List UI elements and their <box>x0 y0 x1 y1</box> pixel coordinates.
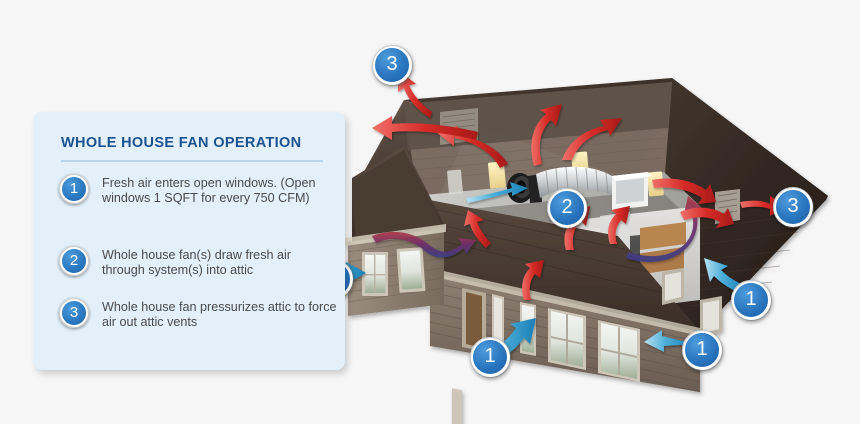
legend-badge-2: 2 <box>59 246 89 276</box>
legend-badge-3: 3 <box>59 298 89 328</box>
marker-2-fan-unit[interactable]: 2 <box>547 188 587 228</box>
legend-panel: WHOLE HOUSE FAN OPERATION 1 Fresh air en… <box>33 112 345 370</box>
title-divider <box>61 160 323 162</box>
marker-1-window-right-lower[interactable]: 1 <box>682 330 722 370</box>
legend-badge-1: 1 <box>59 174 89 204</box>
marker-1-window-front[interactable]: 1 <box>470 337 510 377</box>
legend-item-3: 3 Whole house fan pressurizes attic to f… <box>59 298 337 331</box>
marker-3-gable-right[interactable]: 3 <box>773 187 813 227</box>
marker-3-gable-left[interactable]: 3 <box>372 45 412 85</box>
legend-item-1: 1 Fresh air enters open windows. (Open w… <box>59 174 337 207</box>
legend-text-2: Whole house fan(s) draw fresh air throug… <box>102 246 337 279</box>
marker-1-window-right-upper[interactable]: 1 <box>731 280 771 320</box>
legend-item-2: 2 Whole house fan(s) draw fresh air thro… <box>59 246 337 279</box>
legend-text-1: Fresh air enters open windows. (Open win… <box>102 174 337 207</box>
legend-text-3: Whole house fan pressurizes attic to for… <box>102 298 337 331</box>
diagram-canvas: 3 2 3 1 1 1 1 WHOLE HOUSE FAN OPERATION … <box>0 0 860 424</box>
page-title: WHOLE HOUSE FAN OPERATION <box>61 135 302 151</box>
